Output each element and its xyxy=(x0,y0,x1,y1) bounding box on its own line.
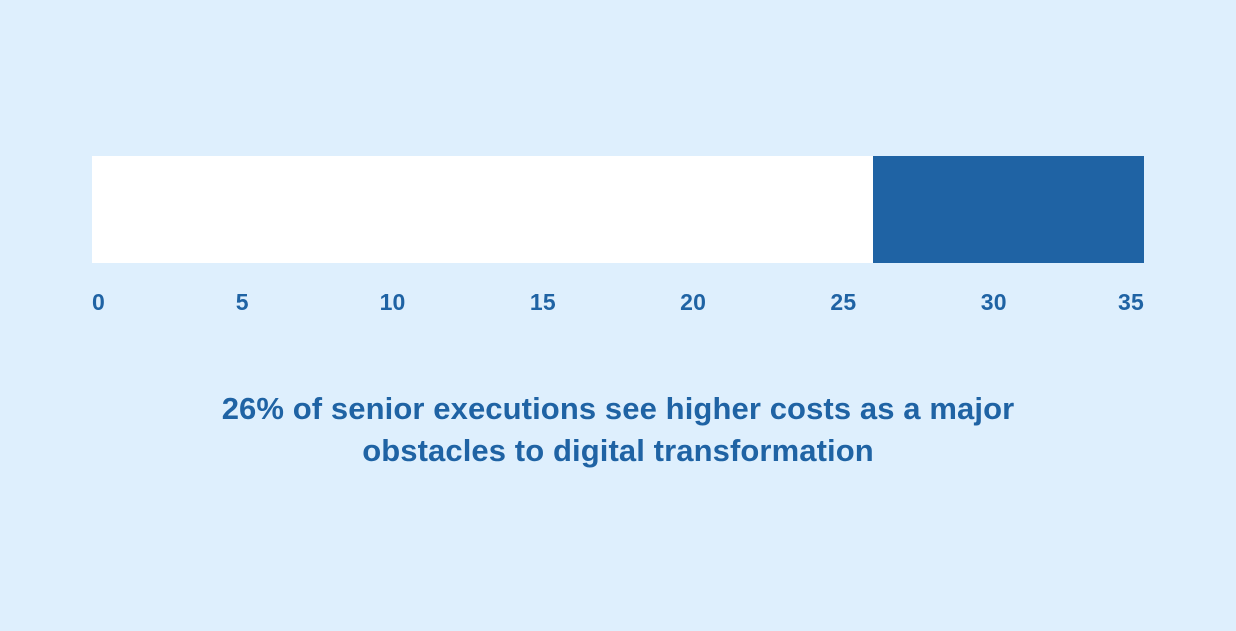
x-axis-tick-label-35: 35 xyxy=(1118,288,1144,316)
x-axis-tick-label-10: 10 xyxy=(380,288,406,316)
bar-track xyxy=(92,156,1144,263)
x-axis-tick-label-0: 0 xyxy=(92,288,105,316)
x-axis-tick-label-15: 15 xyxy=(530,288,556,316)
x-axis-tick-label-30: 30 xyxy=(981,288,1007,316)
x-axis-tick-label-25: 25 xyxy=(830,288,856,316)
x-axis-tick-label-20: 20 xyxy=(680,288,706,316)
chart-caption: 26% of senior executions see higher cost… xyxy=(0,388,1236,472)
infographic-canvas: 05101520253035 26% of senior executions … xyxy=(0,0,1236,631)
bar-segment-remainder xyxy=(92,156,873,263)
bar-chart: 05101520253035 xyxy=(92,156,1144,322)
x-axis: 05101520253035 xyxy=(92,288,1144,322)
caption-line-2: obstacles to digital transformation xyxy=(0,430,1236,472)
bar-segment-value xyxy=(873,156,1144,263)
x-axis-tick-label-5: 5 xyxy=(236,288,249,316)
caption-line-1: 26% of senior executions see higher cost… xyxy=(0,388,1236,430)
